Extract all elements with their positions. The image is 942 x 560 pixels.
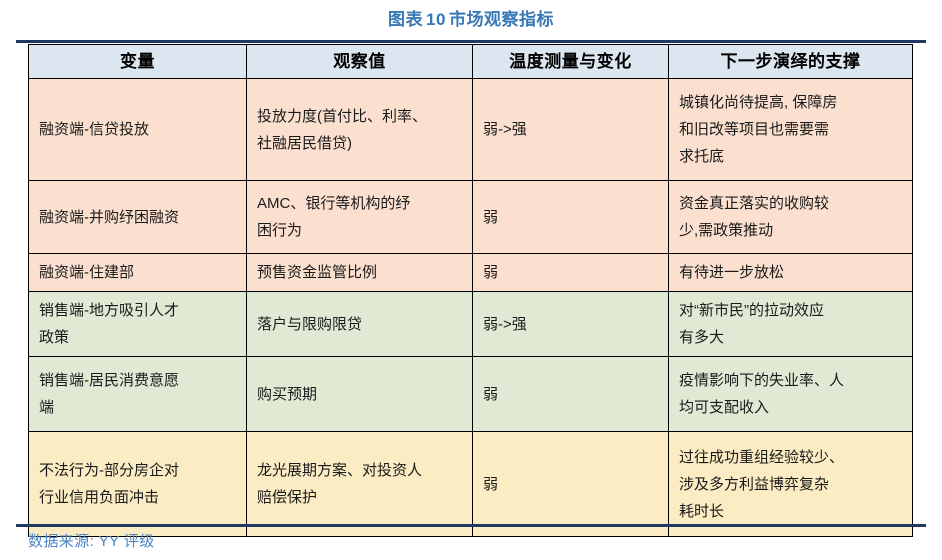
bottom-rule xyxy=(16,524,926,527)
cell-line: 销售端-地方吸引人才 xyxy=(39,297,237,324)
table-row: 融资端-信贷投放 投放力度(首付比、利率、 社融居民借贷) 弱->强 城镇化尚待… xyxy=(29,79,913,181)
figure-title: 图表10市场观察指标 xyxy=(0,9,942,31)
cell-line: 融资端-并购纾困融资 xyxy=(39,204,237,231)
cell-temperature-change: 弱->强 xyxy=(473,79,669,181)
table-row: 不法行为-部分房企对 行业信用负面冲击 龙光展期方案、对投资人 赔偿保护 弱 过… xyxy=(29,432,913,537)
cell-line: AMC、银行等机构的纾 xyxy=(257,190,463,217)
cell-line: 有多大 xyxy=(679,324,903,351)
cell-line: 涉及多方利益博弈复杂 xyxy=(679,471,903,498)
cell-next-step-support: 疫情影响下的失业率、人 均可支配收入 xyxy=(669,357,913,432)
cell-observed-value: 预售资金监管比例 xyxy=(247,254,473,292)
cell-line: 社融居民借贷) xyxy=(257,130,463,157)
table-row: 融资端-并购纾困融资 AMC、银行等机构的纾 困行为 弱 资金真正落实的收购较 … xyxy=(29,181,913,254)
cell-variable: 销售端-居民消费意愿 端 xyxy=(29,357,247,432)
cell-variable: 不法行为-部分房企对 行业信用负面冲击 xyxy=(29,432,247,537)
cell-line: 弱->强 xyxy=(483,116,659,143)
top-rule xyxy=(16,40,926,43)
cell-line: 落户与限购限贷 xyxy=(257,311,463,338)
figure-title-number: 10 xyxy=(423,10,449,29)
cell-line: 弱 xyxy=(483,381,659,408)
cell-next-step-support: 对“新市民”的拉动效应 有多大 xyxy=(669,292,913,357)
cell-next-step-support: 城镇化尚待提高, 保障房 和旧改等项目也需要需 求托底 xyxy=(669,79,913,181)
cell-line: 均可支配收入 xyxy=(679,394,903,421)
column-header-observed-value: 观察值 xyxy=(247,45,473,79)
cell-line: 和旧改等项目也需要需 xyxy=(679,116,903,143)
cell-line: 疫情影响下的失业率、人 xyxy=(679,367,903,394)
cell-line: 求托底 xyxy=(679,143,903,170)
cell-line: 有待进一步放松 xyxy=(679,259,903,286)
cell-temperature-change: 弱 xyxy=(473,254,669,292)
cell-temperature-change: 弱 xyxy=(473,432,669,537)
market-indicator-table: 变量 观察值 温度测量与变化 下一步演绎的支撑 融资端-信贷投放 投放力度(首付… xyxy=(28,44,913,537)
column-header-variable: 变量 xyxy=(29,45,247,79)
cell-line: 少,需政策推动 xyxy=(679,217,903,244)
table-body: 融资端-信贷投放 投放力度(首付比、利率、 社融居民借贷) 弱->强 城镇化尚待… xyxy=(29,79,913,537)
table-row: 销售端-地方吸引人才 政策 落户与限购限贷 弱->强 对“新市民”的拉动效应 有… xyxy=(29,292,913,357)
table-row: 融资端-住建部 预售资金监管比例 弱 有待进一步放松 xyxy=(29,254,913,292)
cell-variable: 融资端-信贷投放 xyxy=(29,79,247,181)
cell-line: 政策 xyxy=(39,324,237,351)
cell-line: 投放力度(首付比、利率、 xyxy=(257,103,463,130)
cell-line: 弱->强 xyxy=(483,311,659,338)
cell-variable: 销售端-地方吸引人才 政策 xyxy=(29,292,247,357)
cell-line: 端 xyxy=(39,394,237,421)
figure-page: 图表10市场观察指标 变量 观察值 温度测量与变化 下一步演绎的支撑 融资端-信… xyxy=(0,0,942,560)
cell-line: 融资端-信贷投放 xyxy=(39,116,237,143)
table-row: 销售端-居民消费意愿 端 购买预期 弱 疫情影响下的失业率、人 均可支配收入 xyxy=(29,357,913,432)
cell-line: 赔偿保护 xyxy=(257,484,463,511)
cell-observed-value: 投放力度(首付比、利率、 社融居民借贷) xyxy=(247,79,473,181)
cell-line: 销售端-居民消费意愿 xyxy=(39,367,237,394)
cell-line: 困行为 xyxy=(257,217,463,244)
cell-line: 耗时长 xyxy=(679,498,903,525)
table-header: 变量 观察值 温度测量与变化 下一步演绎的支撑 xyxy=(29,45,913,79)
cell-observed-value: 购买预期 xyxy=(247,357,473,432)
cell-line: 弱 xyxy=(483,204,659,231)
cell-line: 购买预期 xyxy=(257,381,463,408)
cell-next-step-support: 过往成功重组经验较少、 涉及多方利益博弈复杂 耗时长 xyxy=(669,432,913,537)
figure-title-label: 图表 xyxy=(388,10,423,29)
cell-variable: 融资端-住建部 xyxy=(29,254,247,292)
cell-line: 对“新市民”的拉动效应 xyxy=(679,297,903,324)
table-header-row: 变量 观察值 温度测量与变化 下一步演绎的支撑 xyxy=(29,45,913,79)
cell-observed-value: 龙光展期方案、对投资人 赔偿保护 xyxy=(247,432,473,537)
cell-temperature-change: 弱 xyxy=(473,357,669,432)
cell-line: 弱 xyxy=(483,259,659,286)
cell-line: 弱 xyxy=(483,471,659,498)
cell-line: 资金真正落实的收购较 xyxy=(679,190,903,217)
cell-line: 过往成功重组经验较少、 xyxy=(679,444,903,471)
source-note: 数据来源: YY 评级 xyxy=(28,531,155,553)
cell-line: 龙光展期方案、对投资人 xyxy=(257,457,463,484)
cell-temperature-change: 弱->强 xyxy=(473,292,669,357)
cell-line: 融资端-住建部 xyxy=(39,259,237,286)
cell-line: 行业信用负面冲击 xyxy=(39,484,237,511)
market-indicator-table-wrapper: 变量 观察值 温度测量与变化 下一步演绎的支撑 融资端-信贷投放 投放力度(首付… xyxy=(28,44,912,537)
cell-variable: 融资端-并购纾困融资 xyxy=(29,181,247,254)
column-header-temperature-change: 温度测量与变化 xyxy=(473,45,669,79)
cell-next-step-support: 有待进一步放松 xyxy=(669,254,913,292)
figure-title-text: 市场观察指标 xyxy=(449,10,554,29)
cell-line: 城镇化尚待提高, 保障房 xyxy=(679,89,903,116)
cell-line: 不法行为-部分房企对 xyxy=(39,457,237,484)
column-header-next-step-support: 下一步演绎的支撑 xyxy=(669,45,913,79)
cell-line: 预售资金监管比例 xyxy=(257,259,463,286)
cell-next-step-support: 资金真正落实的收购较 少,需政策推动 xyxy=(669,181,913,254)
cell-observed-value: 落户与限购限贷 xyxy=(247,292,473,357)
cell-temperature-change: 弱 xyxy=(473,181,669,254)
cell-observed-value: AMC、银行等机构的纾 困行为 xyxy=(247,181,473,254)
